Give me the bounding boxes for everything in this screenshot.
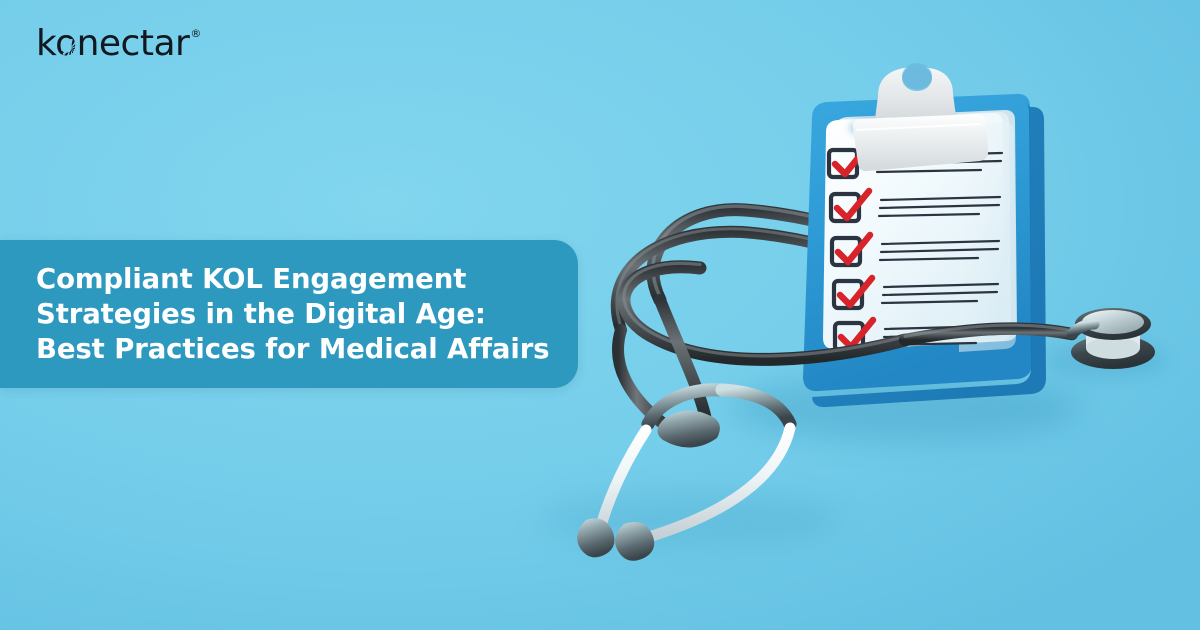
- registered-trademark-icon: ®: [190, 28, 201, 39]
- hero-banner-image: konectar ® Compliant KOL Engagement Stra…: [0, 0, 1200, 630]
- title-banner: Compliant KOL Engagement Strategies in t…: [0, 240, 578, 388]
- brand-logo[interactable]: konectar ®: [36, 22, 201, 66]
- logo-dotted-o-icon: [61, 39, 80, 58]
- brand-logo-text: konectar: [36, 22, 189, 66]
- page-title: Compliant KOL Engagement Strategies in t…: [0, 262, 578, 367]
